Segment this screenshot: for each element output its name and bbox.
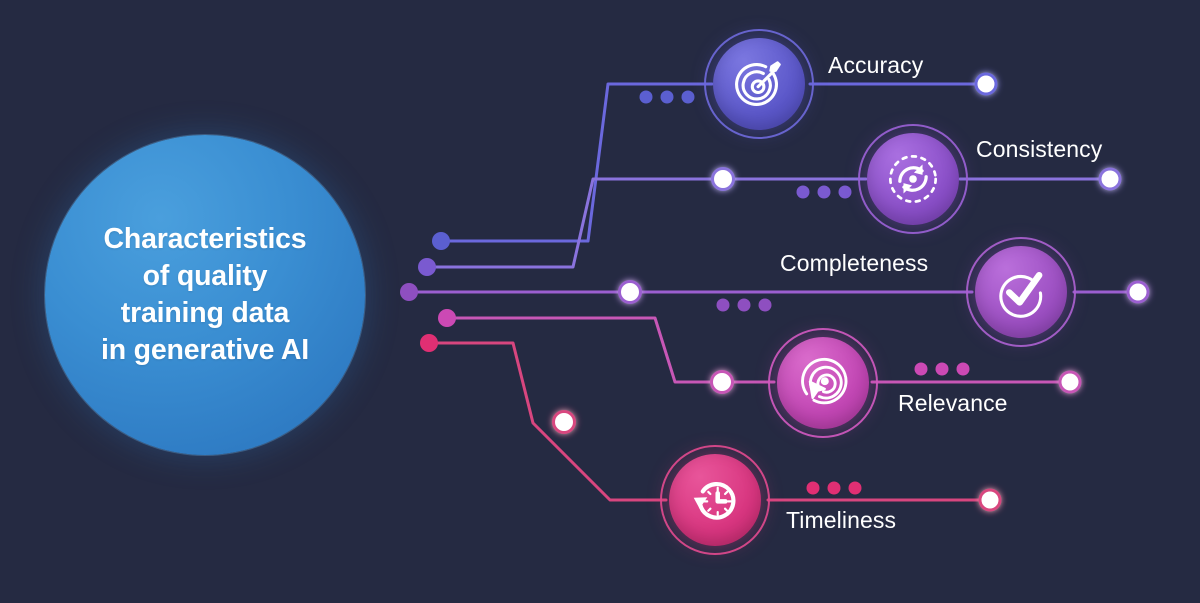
target-arrow-icon	[730, 55, 788, 113]
wire-waypoint-dot-relevance	[712, 372, 733, 393]
node-consistency[interactable]	[858, 124, 968, 234]
wire-start-dot-accuracy	[432, 232, 450, 250]
triple-dot-relevance	[915, 363, 970, 376]
triple-dot-completeness	[717, 299, 772, 312]
label-accuracy: Accuracy	[828, 52, 923, 79]
triple-dot-accuracy	[640, 91, 695, 104]
wire-start-dot-timeliness	[420, 334, 438, 352]
wire-waypoint-dot-timeliness	[554, 412, 575, 433]
node-accuracy[interactable]	[704, 29, 814, 139]
node-completeness[interactable]	[966, 237, 1076, 347]
triple-dot-timeliness	[807, 482, 862, 495]
wire-end-dot-completeness	[1128, 282, 1148, 302]
sync-refresh-icon	[884, 150, 942, 208]
hub-circle: Characteristics of quality training data…	[45, 135, 365, 455]
label-completeness: Completeness	[780, 250, 928, 277]
wire-end-dot-accuracy	[976, 74, 996, 94]
wire-waypoint-dot-completeness	[620, 282, 641, 303]
label-relevance: Relevance	[898, 390, 1008, 417]
wire-start-dot-consistency	[418, 258, 436, 276]
check-circle-icon	[992, 263, 1050, 321]
node-disc-consistency	[867, 133, 959, 225]
node-timeliness[interactable]	[660, 445, 770, 555]
wire-end-dot-consistency	[1100, 169, 1120, 189]
triple-dot-consistency	[797, 186, 852, 199]
node-disc-timeliness	[669, 454, 761, 546]
wire-end-dot-timeliness	[980, 490, 1000, 510]
wire-waypoint-dot-consistency	[713, 169, 734, 190]
wire-timeliness	[429, 343, 666, 500]
wire-accuracy	[441, 84, 712, 241]
label-timeliness: Timeliness	[786, 507, 896, 534]
radar-cursor-icon	[794, 354, 852, 412]
wire-end-dot-relevance	[1060, 372, 1080, 392]
node-disc-accuracy	[713, 38, 805, 130]
label-consistency: Consistency	[976, 136, 1102, 163]
infographic-canvas: Characteristics of quality training data…	[0, 0, 1200, 603]
node-disc-relevance	[777, 337, 869, 429]
wire-start-dot-completeness	[400, 283, 418, 301]
node-relevance[interactable]	[768, 328, 878, 438]
node-disc-completeness	[975, 246, 1067, 338]
wire-start-dot-relevance	[438, 309, 456, 327]
hub-title: Characteristics of quality training data…	[101, 221, 309, 369]
clock-history-icon	[686, 471, 744, 529]
